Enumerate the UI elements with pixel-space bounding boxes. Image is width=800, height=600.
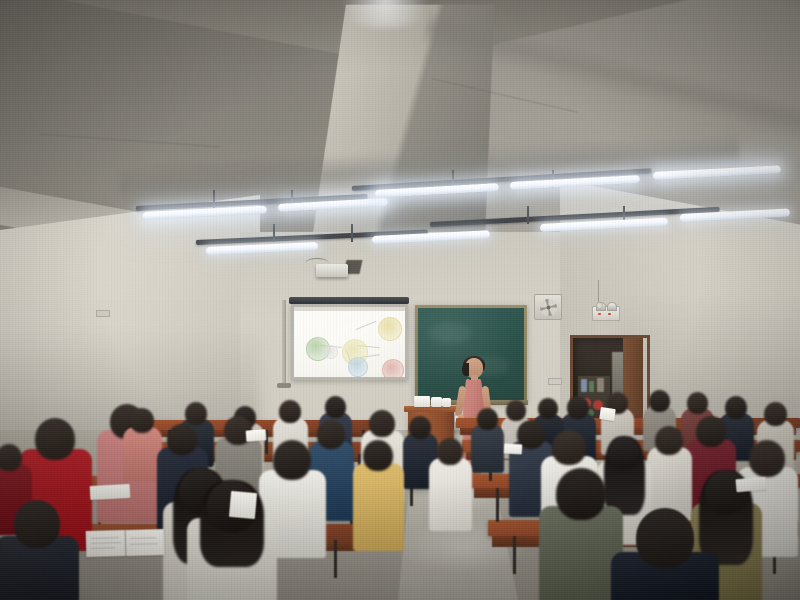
student-dark-1-head [167, 424, 197, 455]
paper-right-1[interactable] [599, 407, 616, 421]
notebook-line-3 [91, 547, 115, 549]
chalk-smudge-1 [428, 322, 472, 344]
notebook-line-1 [91, 537, 119, 539]
student-mid-left-a-head [409, 416, 431, 439]
student-mid-right-1-torso [471, 424, 504, 473]
desk-row-front-right-leg-1 [513, 536, 516, 574]
paper-front-left[interactable] [90, 484, 131, 500]
fan-blades-icon [540, 299, 557, 316]
screen-pole-foot [277, 383, 291, 388]
student-white-3-head [552, 430, 586, 465]
student-white-5-head [655, 426, 683, 455]
student-mid-right-3-head [538, 398, 558, 419]
node-yellow-top [378, 317, 402, 341]
classroom-photo [0, 0, 800, 600]
student-mid-left-b-torso [429, 458, 472, 531]
notebook-line-4 [130, 537, 156, 539]
student-bob-right-head [608, 436, 640, 469]
student-front-left [0, 500, 80, 600]
student-mid-left-b-head [437, 438, 463, 465]
student-mid-right-1 [470, 408, 504, 472]
emergency-light [592, 306, 620, 321]
open-notebook[interactable] [86, 529, 165, 557]
student-back-left-4-head [325, 396, 346, 418]
podium-cup-2[interactable] [442, 398, 451, 407]
wall-outlet-left[interactable] [96, 310, 110, 317]
podium-cup-1[interactable] [431, 397, 442, 407]
student-back-left-1-head [130, 408, 154, 433]
presenter-hair-side [462, 363, 469, 376]
rail-back-left-hanger-2 [351, 224, 353, 242]
emergency-led-2 [608, 313, 611, 315]
rail-back-left-hanger-1 [273, 224, 275, 242]
paper-right-2[interactable] [735, 477, 766, 493]
student-red-jacket-head [35, 418, 75, 460]
student-back-left-5-head [185, 402, 207, 425]
student-back-right-4-head [687, 392, 708, 414]
rail-back-right-hanger-1 [527, 206, 529, 224]
ceiling-cord [598, 280, 599, 304]
student-mid-left-b [428, 438, 472, 530]
emergency-led-1 [598, 313, 601, 315]
node-blue-bottom [348, 357, 368, 377]
notebook-line-5 [130, 543, 158, 545]
paper-right-3[interactable] [504, 444, 522, 455]
student-yellow-head [363, 440, 393, 471]
desk-row-2-right-leg-1 [496, 488, 499, 522]
screen-support-pole [282, 300, 286, 386]
screen-top-band [294, 307, 405, 311]
student-navy-front [610, 508, 720, 600]
wall-outlet-right[interactable] [548, 378, 562, 385]
student-maroon-head [696, 416, 726, 447]
projection-screen[interactable] [294, 307, 405, 377]
notebook-spine [125, 530, 127, 556]
student-front-left-head [14, 500, 60, 548]
student-olive-head [556, 468, 606, 520]
node-grey-small [324, 345, 338, 359]
emergency-lamp-right-icon [607, 302, 617, 311]
student-mid-right-1-head [477, 408, 498, 430]
paper-mid-left[interactable] [229, 491, 257, 519]
node-red-right [382, 359, 404, 377]
student-yellow-torso [353, 463, 404, 551]
podium-top-surface [404, 406, 458, 412]
student-white-1-head [273, 440, 311, 480]
paper-row3-left[interactable] [246, 429, 267, 441]
student-back-right-3-head [649, 390, 670, 412]
student-navy-front-head [636, 508, 694, 568]
cord-ball [596, 302, 603, 309]
student-far-left-edge-head [0, 444, 22, 471]
edge-center-yellow [356, 321, 377, 330]
student-back-right-1-head [567, 396, 589, 419]
student-back-right-6-head [764, 402, 787, 426]
exhaust-fan [534, 294, 562, 320]
student-white-5 [646, 426, 692, 520]
notebook-line-2 [91, 542, 121, 544]
student-yellow [352, 440, 404, 550]
screen-roller-bar[interactable] [289, 297, 409, 304]
student-mid-right-2-head [506, 400, 526, 421]
podium-papers[interactable] [414, 396, 430, 407]
student-white-2-head [369, 410, 395, 437]
rail-front-left-hanger-1 [213, 190, 215, 208]
student-back-left-3-head [279, 400, 301, 423]
desk-row-front-left-leg-3 [334, 540, 337, 578]
projector [316, 264, 348, 277]
